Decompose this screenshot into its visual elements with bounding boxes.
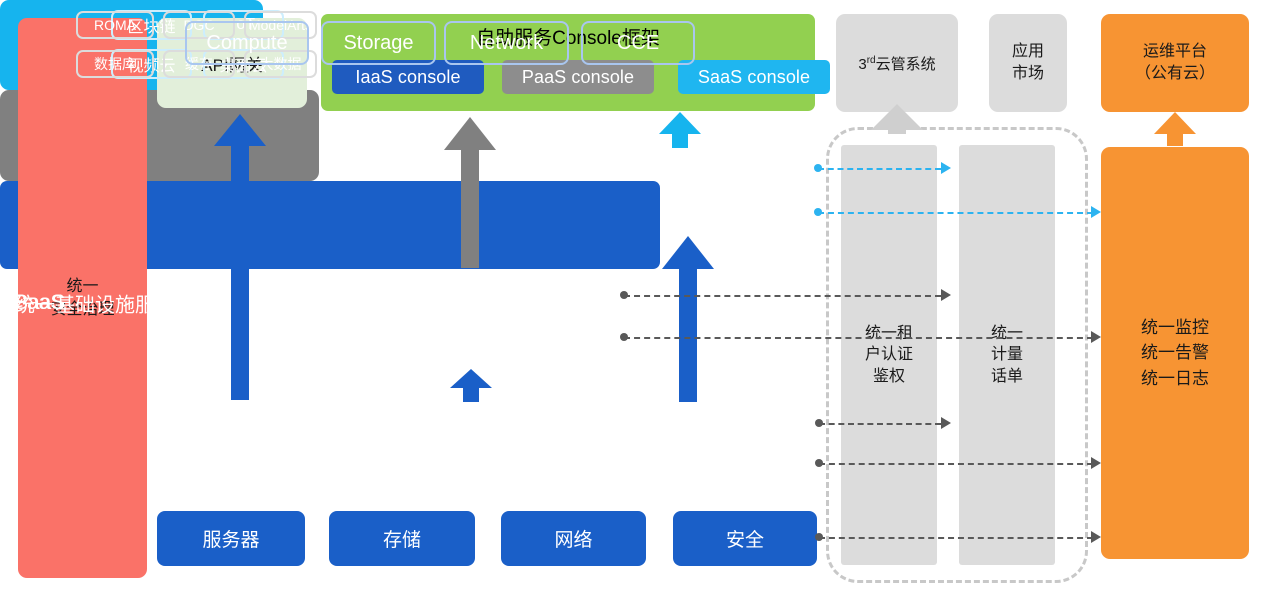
resource-box-storage-label: 存储 [383,525,421,552]
dashed-infra-to-ops-origin [815,459,823,467]
resource-box-security[interactable]: 安全 [673,511,817,566]
dashed-saas-to-auth-arrowhead [941,162,951,174]
resource-box-storage[interactable]: 存储 [329,511,475,566]
saas-console-chip[interactable]: SaaS console [678,60,830,94]
resource-box-server[interactable]: 服务器 [157,511,305,566]
resource-box-network-label: 网络 [554,525,592,552]
infra-service-compute[interactable]: Compute [185,21,309,65]
arrow-ops-body-to-header [1154,112,1196,146]
ops-platform-body-box: 统一监控统一告警统一日志 [1101,147,1249,559]
ops-platform-body-label: 统一监控统一告警统一日志 [1141,315,1209,392]
dashed-saas-to-ops-origin [814,208,822,216]
unified-metering-billing-column: 统一计量话单 [959,145,1055,565]
paas-service-roma[interactable]: ROMA [76,11,154,39]
unified-metering-billing-label: 统一计量话单 [991,323,1023,388]
dashed-paas-to-auth-arrowhead [941,289,951,301]
arrow-infra-to-paas [450,369,492,402]
dashed-paas-to-ops-arrowhead [1091,331,1101,343]
dashed-saas-to-auth-origin [814,164,822,172]
ops-platform-header-box: 运维平台（公有云） [1101,14,1249,112]
infra-service-cce[interactable]: CCE [581,21,695,65]
infra-service-network-label: Network [470,32,543,55]
infra-service-storage[interactable]: Storage [321,21,436,65]
dashed-paas-to-auth [624,295,941,297]
iaas-console-chip[interactable]: IaaS console [332,60,484,94]
third-party-superscript: rd [867,55,876,66]
dashed-infra-to-auth-origin [815,419,823,427]
dashed-security-to-ops-arrowhead [1091,531,1101,543]
app-market-label: 应用市场 [1012,41,1044,84]
dashed-infra-to-auth-arrowhead [941,417,951,429]
paas-service-database-label: 数据库 [94,54,136,74]
app-market-box: 应用市场 [989,14,1067,112]
infra-service-network[interactable]: Network [444,21,569,65]
ops-platform-header-label: 运维平台（公有云） [1135,41,1215,86]
arrow-infra-to-saas [662,236,714,402]
paas-console-label: PaaS console [522,67,634,88]
unified-infrastructure-service-label: 统一基础设施服务 [15,288,175,317]
resource-box-network[interactable]: 网络 [501,511,646,566]
third-party-label: 3rd云管系统 [858,53,935,74]
architecture-diagram: 统一安全治理 API网关 自助服务Console框架 IaaS console … [0,0,1265,605]
dashed-security-to-ops [819,537,1093,539]
iaas-console-label: IaaS console [355,67,460,88]
resource-box-security-label: 安全 [726,525,764,552]
infra-service-cce-label: CCE [617,32,659,55]
dashed-paas-to-auth-origin [620,291,628,299]
dashed-infra-to-auth [819,423,941,425]
paas-console-chip[interactable]: PaaS console [502,60,654,94]
saas-console-label: SaaS console [698,67,810,88]
dashed-infra-to-ops [819,463,1093,465]
arrow-saas-to-saas-console [659,112,701,148]
infra-service-storage-label: Storage [343,32,413,55]
infra-service-compute-label: Compute [206,32,287,55]
unified-tenant-auth-column: 统一租户认证鉴权 [841,145,937,565]
paas-service-database[interactable]: 数据库 [76,50,154,78]
dashed-infra-to-ops-arrowhead [1091,457,1101,469]
resource-box-server-label: 服务器 [202,525,259,552]
dashed-saas-to-auth [818,168,941,170]
unified-tenant-auth-label: 统一租户认证鉴权 [865,323,913,388]
dashed-security-to-ops-origin [815,533,823,541]
third-party-cloud-management-box: 3rd云管系统 [836,14,958,112]
dashed-paas-to-ops [624,337,1093,339]
dashed-saas-to-ops [818,212,1093,214]
dashed-saas-to-ops-arrowhead [1091,206,1101,218]
dashed-paas-to-ops-origin [620,333,628,341]
paas-service-roma-label: ROMA [94,17,136,33]
